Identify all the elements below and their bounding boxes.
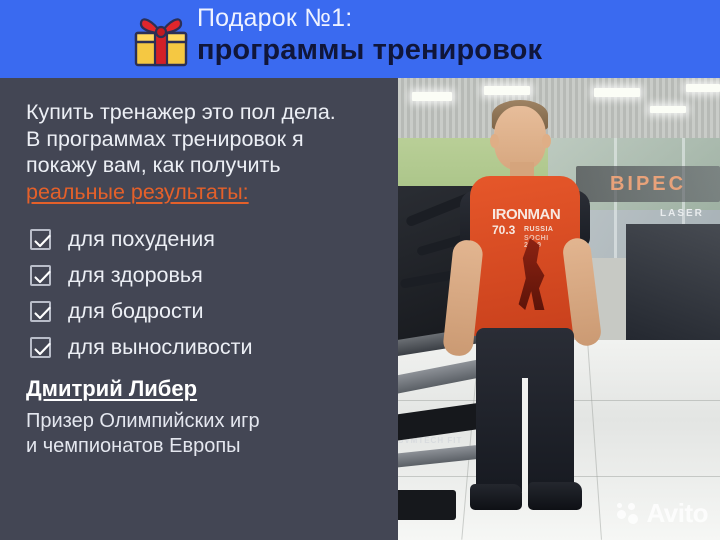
intro-highlight: реальные результаты: [26, 179, 396, 206]
gym-sign-sub: LASER [660, 208, 720, 222]
credentials-line-1: Призер Олимпийских игр [26, 409, 386, 434]
intro-paragraph: Купить тренажер это пол дела. В программ… [26, 99, 396, 205]
intro-line-3: покажу вам, как получить [26, 152, 396, 179]
ceiling-light [412, 92, 452, 101]
checklist-label: для похудения [68, 227, 215, 252]
shirt-print-region: RUSSIA [524, 226, 553, 233]
checkbox-checked-icon [30, 337, 51, 358]
person-shoe-left [470, 484, 522, 510]
intro-line-2: В программах тренировок я [26, 126, 396, 153]
avito-dots-icon [617, 503, 641, 524]
avito-watermark: Avito [617, 500, 708, 526]
checklist-label: для выносливости [68, 335, 252, 360]
checkbox-checked-icon [30, 301, 51, 322]
shirt-print-title: IRONMAN [492, 206, 560, 223]
list-item: для похудения [30, 224, 380, 255]
benefits-checklist: для похудения для здоровья для бодрости … [30, 224, 380, 368]
person-ear [490, 134, 499, 148]
content-panel: Купить тренажер это пол дела. В программ… [0, 78, 400, 540]
promo-banner: Подарок №1: программы тренировок Купить … [0, 0, 720, 540]
checkbox-checked-icon [30, 229, 51, 250]
header-line-1: Подарок №1: [197, 6, 542, 33]
person-shoe-right [528, 482, 582, 510]
list-item: для бодрости [30, 296, 380, 327]
header-text-block: Подарок №1: программы тренировок [197, 6, 542, 65]
avito-label: Avito [646, 500, 708, 526]
gym-sign: BIPEC [576, 166, 720, 202]
treadmill-base [398, 490, 456, 520]
ceiling-light [686, 84, 720, 92]
shirt-print-distance: 70.3 [492, 223, 515, 237]
checklist-label: для здоровья [68, 263, 203, 288]
shirt-print: IRONMAN 70.3 RUSSIA SOCHI 2019 [490, 198, 564, 316]
gift-icon [133, 13, 189, 67]
gym-equipment [626, 224, 720, 340]
checkbox-checked-icon [30, 265, 51, 286]
banner-header: Подарок №1: программы тренировок [0, 0, 720, 78]
ceiling-light [594, 88, 640, 97]
person-head [494, 106, 546, 170]
author-name: Дмитрий Либер [26, 376, 386, 402]
intro-line-1: Купить тренажер это пол дела. [26, 99, 396, 126]
ceiling-light [484, 86, 530, 95]
signature-block: Дмитрий Либер Призер Олимпийских игр и ч… [26, 376, 386, 459]
list-item: для выносливости [30, 332, 380, 363]
credentials-line-2: и чемпионатов Европы [26, 434, 386, 459]
checklist-label: для бодрости [68, 299, 204, 324]
leg-separation [522, 378, 528, 492]
header-line-2: программы тренировок [197, 36, 542, 65]
author-credentials: Призер Олимпийских игр и чемпионатов Евр… [26, 409, 386, 459]
person-ear [542, 134, 551, 148]
list-item: для здоровья [30, 260, 380, 291]
ceiling-light [650, 106, 686, 113]
gym-photo: BIPEC LASER SVMTECH FIT IR [398, 78, 720, 540]
